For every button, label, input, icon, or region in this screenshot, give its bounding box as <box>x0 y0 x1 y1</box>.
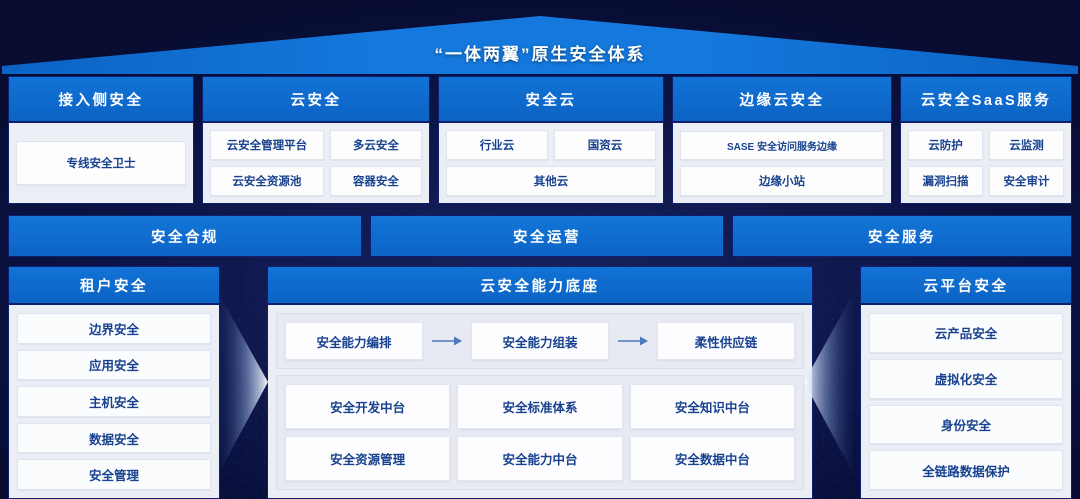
chip-dedicated-line-guard[interactable]: 专线安全卫士 <box>16 141 186 185</box>
chip-cloud-product-security[interactable]: 云产品安全 <box>869 313 1063 353</box>
service-band-row: 安全合规 安全运营 安全服务 <box>8 215 1072 257</box>
chip-security-data-platform[interactable]: 安全数据中台 <box>630 436 795 481</box>
chip-row: SASE 安全访问服务边缘 <box>680 131 884 160</box>
pillar-title: 接入侧安全 <box>9 77 193 123</box>
chip-security-resource-management[interactable]: 安全资源管理 <box>285 436 450 481</box>
pillar-body: 行业云 国资云 其他云 <box>439 123 663 203</box>
pillar-body: 专线安全卫士 <box>9 123 193 203</box>
pillar-body: SASE 安全访问服务边缘 边缘小站 <box>673 123 891 203</box>
chip-flexible-supply-chain[interactable]: 柔性供应链 <box>657 322 795 360</box>
chip-virtualization-security[interactable]: 虚拟化安全 <box>869 359 1063 399</box>
chip-boundary-security[interactable]: 边界安全 <box>17 313 211 344</box>
chip-industry-cloud[interactable]: 行业云 <box>446 130 548 160</box>
panel-tenant-security[interactable]: 租户安全 边界安全 应用安全 主机安全 数据安全 安全管理 <box>8 266 220 499</box>
chip-data-security[interactable]: 数据安全 <box>17 423 211 454</box>
chip-security-capability-assembly[interactable]: 安全能力组装 <box>471 322 609 360</box>
chip-vulnerability-scan[interactable]: 漏洞扫描 <box>908 166 983 196</box>
capability-flow-row: 安全能力编排 安全能力组装 <box>285 322 795 360</box>
chip-other-cloud[interactable]: 其他云 <box>446 166 656 196</box>
chip-row: 其他云 <box>446 166 656 196</box>
band-cell-operations[interactable]: 安全运营 <box>370 215 724 257</box>
chip-row: 专线安全卫士 <box>16 141 186 185</box>
capability-grid-row: 安全资源管理 安全能力中台 安全数据中台 <box>285 436 795 481</box>
capability-grid-row: 安全开发中台 安全标准体系 安全知识中台 <box>285 384 795 429</box>
pillar-title: 边缘云安全 <box>673 77 891 123</box>
roof-banner: “一体两翼”原生安全体系 <box>0 14 1080 74</box>
panel-body: 云产品安全 虚拟化安全 身份安全 全链路数据保护 <box>861 305 1071 498</box>
chip-security-management[interactable]: 安全管理 <box>17 459 211 490</box>
panel-cloud-platform-security[interactable]: 云平台安全 云产品安全 虚拟化安全 身份安全 全链路数据保护 <box>860 266 1072 499</box>
chip-sase[interactable]: SASE 安全访问服务边缘 <box>680 131 884 160</box>
chip-security-knowledge-platform[interactable]: 安全知识中台 <box>630 384 795 429</box>
panel-body: 安全能力编排 安全能力组装 <box>268 305 812 498</box>
arrow-right-icon-1 <box>430 322 464 360</box>
capability-flow-group: 安全能力编排 安全能力组装 <box>276 313 804 369</box>
chip-host-security[interactable]: 主机安全 <box>17 386 211 417</box>
chip-cloud-protection[interactable]: 云防护 <box>908 130 983 160</box>
pillar-cloud-security[interactable]: 云安全 云安全管理平台 多云安全 云安全资源池 容器安全 <box>202 76 430 204</box>
bottom-section: 租户安全 边界安全 应用安全 主机安全 数据安全 安全管理 云安全能力底座 安全… <box>0 266 1080 499</box>
chevron-right-decoration <box>216 266 272 499</box>
chip-security-dev-platform[interactable]: 安全开发中台 <box>285 384 450 429</box>
pillar-body: 云防护 云监测 漏洞扫描 安全审计 <box>901 123 1071 203</box>
chip-application-security[interactable]: 应用安全 <box>17 350 211 381</box>
panel-body: 边界安全 应用安全 主机安全 数据安全 安全管理 <box>9 305 219 498</box>
band-cell-services[interactable]: 安全服务 <box>732 215 1072 257</box>
chip-cloud-monitoring[interactable]: 云监测 <box>989 130 1064 160</box>
chip-row: 漏洞扫描 安全审计 <box>908 166 1064 196</box>
chip-multi-cloud-security[interactable]: 多云安全 <box>330 130 422 160</box>
arrow-right-glyph <box>618 335 648 347</box>
arrow-right-glyph <box>432 335 462 347</box>
pillar-edge-cloud-security[interactable]: 边缘云安全 SASE 安全访问服务边缘 边缘小站 <box>672 76 892 204</box>
panel-title: 租户安全 <box>9 267 219 305</box>
diagram-title: “一体两翼”原生安全体系 <box>0 14 1080 74</box>
chip-row: 云安全管理平台 多云安全 <box>210 130 422 160</box>
pillar-title: 云安全 <box>203 77 429 123</box>
pillar-row: 接入侧安全 专线安全卫士 云安全 云安全管理平台 多云安全 云安全资源池 容器安… <box>8 76 1072 204</box>
panel-title: 云平台安全 <box>861 267 1071 305</box>
capability-grid-group: 安全开发中台 安全标准体系 安全知识中台 安全资源管理 安全能力中台 安全数据中… <box>276 375 804 490</box>
chevron-left-decoration <box>800 266 856 499</box>
panel-title: 云安全能力底座 <box>268 267 812 305</box>
chip-row: 行业云 国资云 <box>446 130 656 160</box>
band-cell-compliance[interactable]: 安全合规 <box>8 215 362 257</box>
chip-cloud-security-resource-pool[interactable]: 云安全资源池 <box>210 166 324 196</box>
chip-security-capability-orchestration[interactable]: 安全能力编排 <box>285 322 423 360</box>
panel-cloud-security-capability-base[interactable]: 云安全能力底座 安全能力编排 安全能力组装 <box>267 266 813 499</box>
chip-identity-security[interactable]: 身份安全 <box>869 405 1063 445</box>
chip-security-standard-system[interactable]: 安全标准体系 <box>457 384 622 429</box>
pillar-title: 安全云 <box>439 77 663 123</box>
chip-container-security[interactable]: 容器安全 <box>330 166 422 196</box>
chip-row: 云防护 云监测 <box>908 130 1064 160</box>
pillar-security-cloud[interactable]: 安全云 行业云 国资云 其他云 <box>438 76 664 204</box>
chip-cloud-security-mgmt-platform[interactable]: 云安全管理平台 <box>210 130 324 160</box>
chip-row: 云安全资源池 容器安全 <box>210 166 422 196</box>
chip-state-asset-cloud[interactable]: 国资云 <box>554 130 656 160</box>
chip-row: 边缘小站 <box>680 166 884 196</box>
pillar-cloud-security-saas[interactable]: 云安全SaaS服务 云防护 云监测 漏洞扫描 安全审计 <box>900 76 1072 204</box>
chip-full-link-data-protection[interactable]: 全链路数据保护 <box>869 450 1063 490</box>
arrow-right-icon-2 <box>616 322 650 360</box>
pillar-title: 云安全SaaS服务 <box>901 77 1071 123</box>
diagram-canvas: “一体两翼”原生安全体系 接入侧安全 专线安全卫士 云安全 云安全管理平台 多云… <box>0 0 1080 499</box>
pillar-body: 云安全管理平台 多云安全 云安全资源池 容器安全 <box>203 123 429 203</box>
chip-security-audit[interactable]: 安全审计 <box>989 166 1064 196</box>
pillar-access-security[interactable]: 接入侧安全 专线安全卫士 <box>8 76 194 204</box>
chip-edge-station[interactable]: 边缘小站 <box>680 166 884 196</box>
chip-security-capability-platform[interactable]: 安全能力中台 <box>457 436 622 481</box>
